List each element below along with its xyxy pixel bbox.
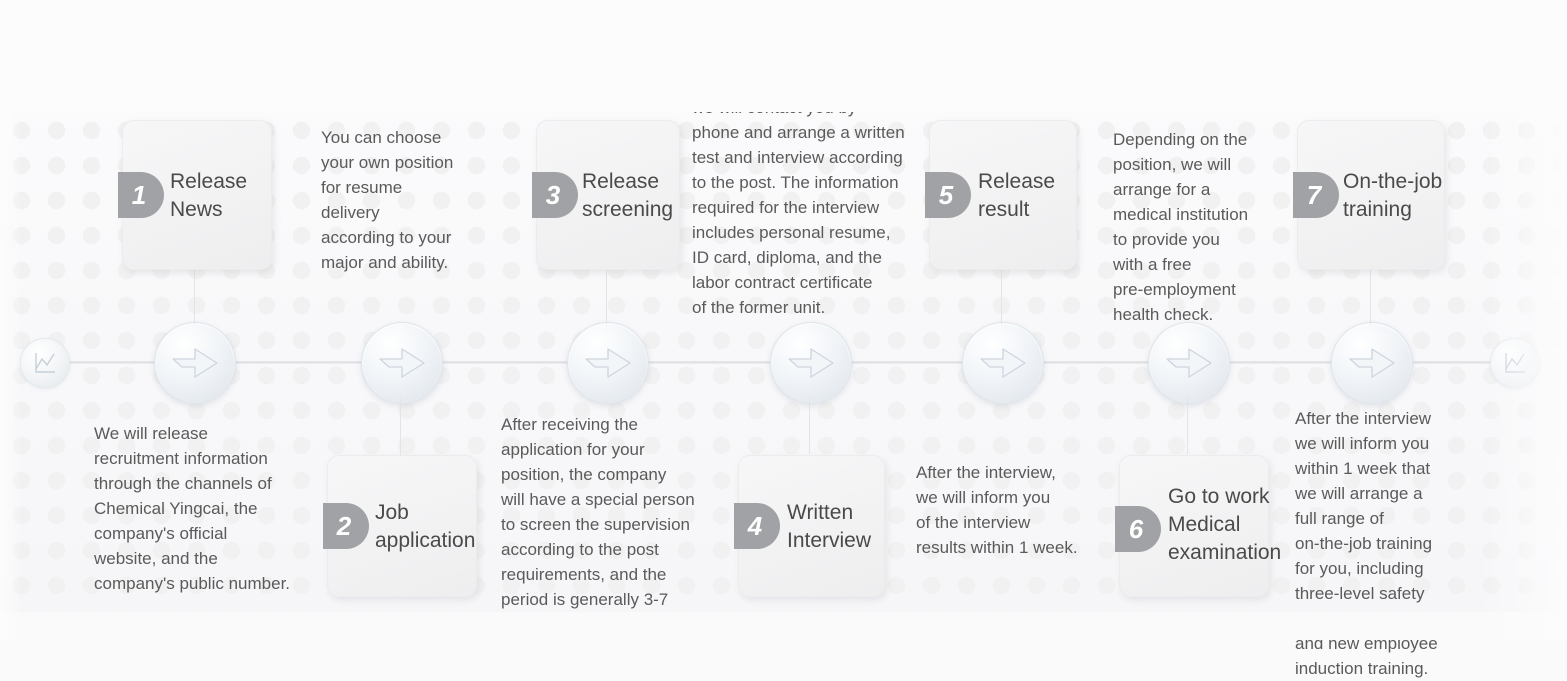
step-badge-7: 7 xyxy=(1293,172,1339,218)
connector-stem-4 xyxy=(809,398,810,454)
connector-stem-2 xyxy=(400,398,401,458)
step-description-3: After receiving the application for your… xyxy=(501,412,726,637)
timeline-node-2[interactable] xyxy=(361,322,443,404)
step-card-6[interactable]: 6 Go to work Medical examination xyxy=(1119,455,1269,597)
step-card-7[interactable]: 7 On-the-job training xyxy=(1297,120,1445,270)
zigzag-right-arrow-icon xyxy=(1345,343,1399,383)
timeline-end-endcap xyxy=(1490,338,1540,388)
timeline-node-6[interactable] xyxy=(1148,322,1230,404)
step-description-2: You can choose your own position for res… xyxy=(321,125,511,275)
timeline-node-1[interactable] xyxy=(154,322,236,404)
zigzag-right-arrow-icon xyxy=(168,343,222,383)
step-badge-1: 1 xyxy=(118,172,164,218)
step-description-6: Depending on the position, we will arran… xyxy=(1113,127,1293,327)
step-description-4: If your position meets the requirements … xyxy=(692,45,922,320)
step-description-5: After the interview, we will inform you … xyxy=(916,460,1116,560)
chart-line-icon xyxy=(32,350,58,376)
step-badge-6: 6 xyxy=(1115,506,1161,552)
step-card-5[interactable]: 5 Release result xyxy=(929,120,1077,270)
step-badge-2: 2 xyxy=(323,503,369,549)
zigzag-right-arrow-icon xyxy=(581,343,635,383)
infographic-canvas: 1 Release News We will release recruitme… xyxy=(0,0,1567,640)
step-card-4[interactable]: 4 Written Interview xyxy=(738,455,885,597)
connector-stem-5 xyxy=(1001,266,1002,324)
connector-stem-3 xyxy=(606,268,607,324)
timeline-start-endcap xyxy=(20,338,70,388)
step-badge-5: 5 xyxy=(925,172,971,218)
connector-stem-7 xyxy=(1370,266,1371,324)
step-badge-4: 4 xyxy=(734,503,780,549)
step-card-2[interactable]: 2 Job application xyxy=(327,455,477,597)
step-description-1: We will release recruitment information … xyxy=(94,421,339,596)
timeline-node-7[interactable] xyxy=(1331,322,1413,404)
timeline-node-4[interactable] xyxy=(770,322,852,404)
step-title-2: Job application xyxy=(375,499,493,555)
zigzag-right-arrow-icon xyxy=(784,343,838,383)
step-title-5: Release result xyxy=(978,168,1088,224)
connector-stem-6 xyxy=(1187,398,1188,454)
step-title-7: On-the-job training xyxy=(1343,168,1478,224)
timeline-node-3[interactable] xyxy=(567,322,649,404)
step-title-6: Go to work Medical examination xyxy=(1168,483,1298,567)
step-card-1[interactable]: 1 Release News xyxy=(122,120,272,270)
zigzag-right-arrow-icon xyxy=(1162,343,1216,383)
step-title-1: Release News xyxy=(170,168,280,224)
step-badge-3: 3 xyxy=(532,172,578,218)
zigzag-right-arrow-icon xyxy=(976,343,1030,383)
chart-line-icon xyxy=(1502,350,1528,376)
step-title-4: Written Interview xyxy=(787,499,905,555)
zigzag-right-arrow-icon xyxy=(375,343,429,383)
step-card-3[interactable]: 3 Release screening xyxy=(536,120,680,270)
connector-stem-1 xyxy=(194,266,195,324)
timeline-node-5[interactable] xyxy=(962,322,1044,404)
left-fade-veil xyxy=(0,0,22,640)
right-fade-veil xyxy=(1480,0,1567,640)
step-title-3: Release screening xyxy=(582,168,702,224)
